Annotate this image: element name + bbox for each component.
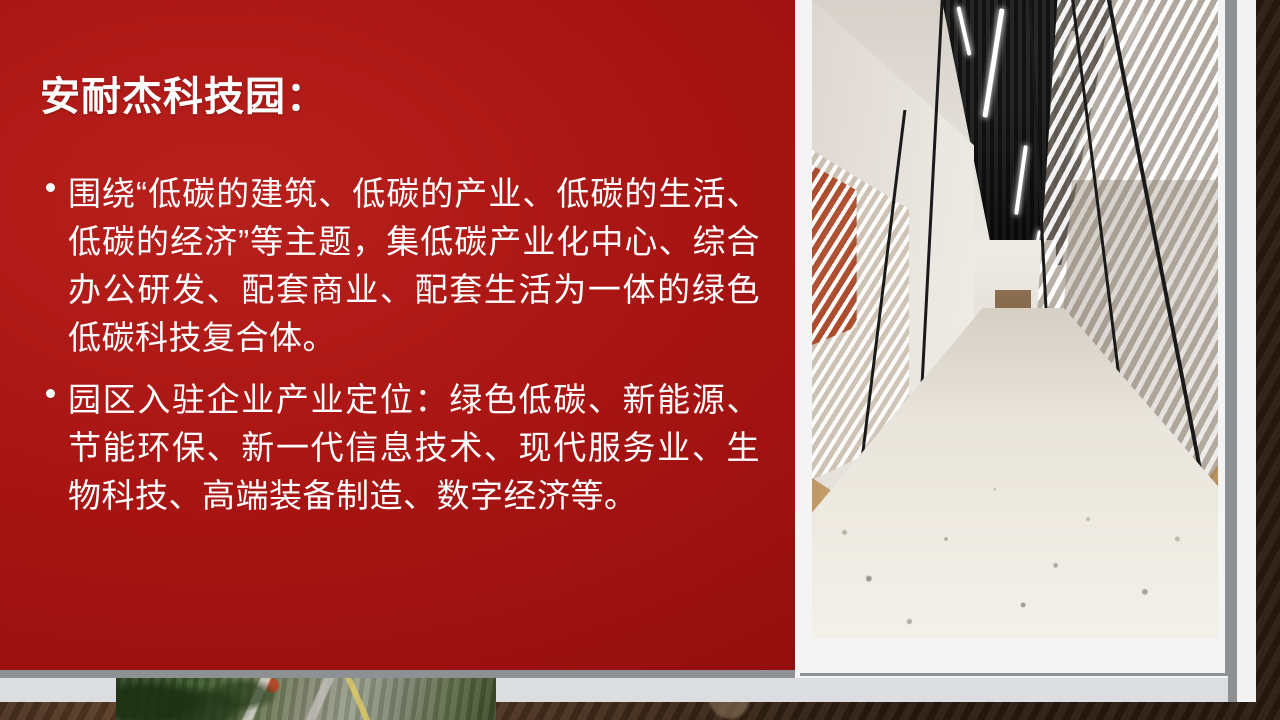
bullet-dot-icon (46, 183, 55, 192)
office-corridor-photo (812, 0, 1218, 638)
red-content-panel: 安耐杰科技园： 围绕“低碳的建筑、低碳的产业、低碳的生活、低碳的经济”等主题，集… (0, 0, 795, 670)
bullet-text: 园区入驻企业产业定位：绿色低碳、新能源、节能环保、新一代信息技术、现代服务业、生… (68, 376, 760, 520)
bullet-text: 围绕“低碳的建筑、低碳的产业、低碳的生活、低碳的经济”等主题，集低碳产业化中心、… (68, 170, 760, 362)
left-accent-panel (812, 165, 857, 345)
aerial-site-photo (116, 678, 496, 720)
slide-title: 安耐杰科技园： (40, 74, 327, 120)
bottom-white-bar-right (496, 678, 1256, 702)
bullet-list: 围绕“低碳的建筑、低碳的产业、低碳的生活、低碳的经济”等主题，集低碳产业化中心、… (40, 170, 760, 534)
bullet-dot-icon (46, 389, 55, 398)
list-item: 园区入驻企业产业定位：绿色低碳、新能源、节能环保、新一代信息技术、现代服务业、生… (40, 376, 760, 520)
list-item: 围绕“低碳的建筑、低碳的产业、低碳的生活、低碳的经济”等主题，集低碳产业化中心、… (40, 170, 760, 362)
bottom-white-bar-left (0, 678, 116, 702)
right-white-border (1237, 0, 1256, 702)
presentation-slide: 安耐杰科技园： 围绕“低碳的建筑、低碳的产业、低碳的生活、低碳的经济”等主题，集… (0, 0, 1280, 720)
